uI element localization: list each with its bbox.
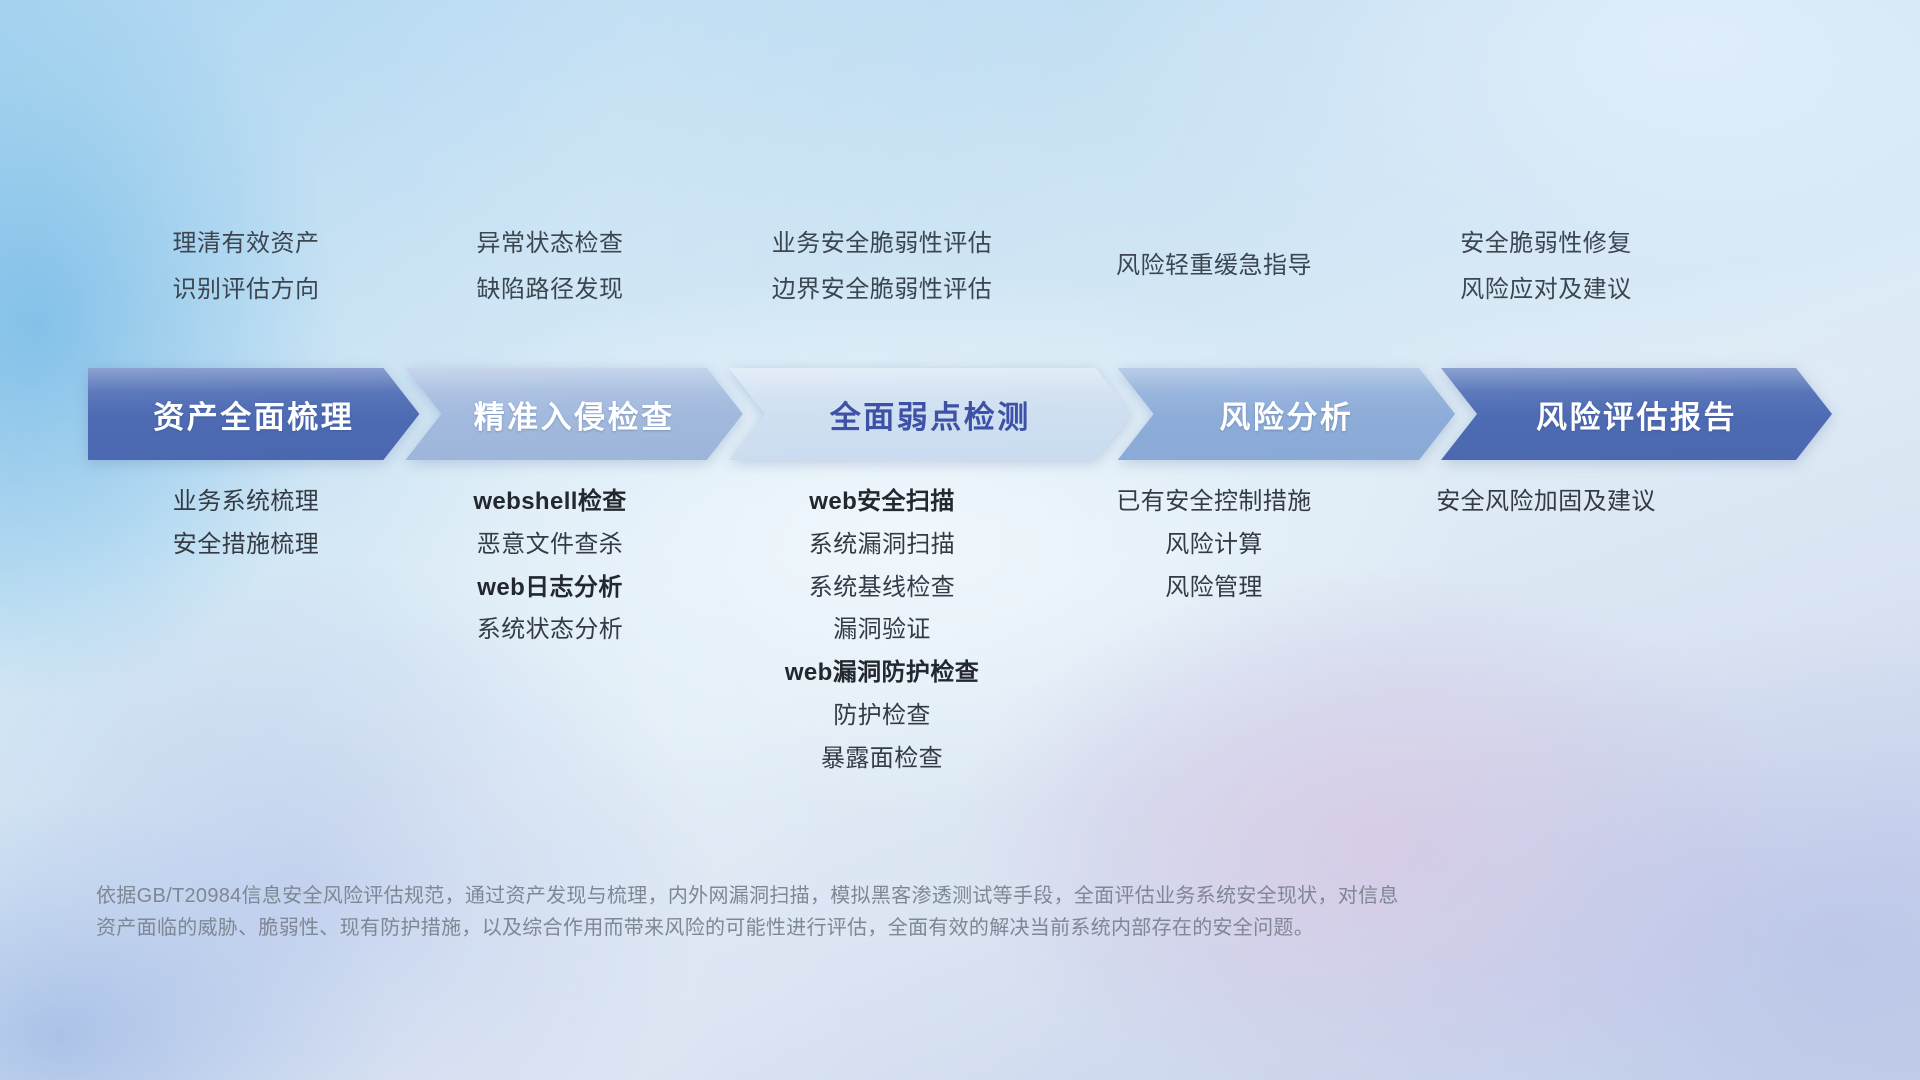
top-group-assessment-report: 安全脆弱性修复 风险应对及建议 — [1360, 232, 1732, 302]
top-label: 缺陷路径发现 — [477, 278, 624, 302]
list-item: 漏洞验证 — [833, 616, 931, 645]
chevron-label: 风险评估报告 — [1536, 392, 1737, 437]
top-group-intrusion-check: 异常状态检查 缺陷路径发现 — [404, 232, 696, 302]
bottom-group-assessment-report: 安全风险加固及建议 — [1360, 488, 1732, 774]
top-label: 业务安全脆弱性评估 — [772, 232, 993, 256]
process-chevron-banner: 资产全面梳理 精准入侵检查 全面弱点检测 风险分析 风险评估报告 — [88, 368, 1832, 460]
list-item: 业务系统梳理 — [173, 488, 319, 517]
top-label: 异常状态检查 — [477, 232, 624, 256]
top-label: 识别评估方向 — [173, 278, 320, 302]
list-item: 系统漏洞扫描 — [809, 531, 955, 560]
list-item: web日志分析 — [477, 574, 622, 603]
bottom-group-weakness-detection: web安全扫描 系统漏洞扫描 系统基线检查 漏洞验证 web漏洞防护检查 防护检… — [696, 488, 1068, 774]
chevron-stage-asset-inventory[interactable]: 资产全面梳理 — [88, 368, 419, 460]
top-label: 风险应对及建议 — [1460, 278, 1632, 302]
list-item: web安全扫描 — [809, 488, 954, 517]
top-label: 安全脆弱性修复 — [1460, 232, 1632, 256]
list-item: 系统基线检查 — [809, 574, 955, 603]
top-label: 理清有效资产 — [173, 232, 320, 256]
list-item: web漏洞防护检查 — [785, 659, 979, 688]
list-item: 恶意文件查杀 — [477, 531, 623, 560]
top-label: 边界安全脆弱性评估 — [772, 278, 993, 302]
top-label: 风险轻重缓急指导 — [1116, 254, 1312, 278]
top-group-weakness-detection: 业务安全脆弱性评估 边界安全脆弱性评估 — [696, 232, 1068, 302]
chevron-stage-assessment-report[interactable]: 风险评估报告 — [1441, 368, 1832, 460]
chevron-label: 全面弱点检测 — [830, 392, 1031, 437]
list-item: webshell检查 — [473, 488, 626, 517]
bottom-group-intrusion-check: webshell检查 恶意文件查杀 web日志分析 系统状态分析 — [404, 488, 696, 774]
footer-line: 依据GB/T20984信息安全风险评估规范，通过资产发现与梳理，内外网漏洞扫描，… — [96, 880, 1656, 912]
list-item: 安全措施梳理 — [173, 531, 319, 560]
slide-canvas: 理清有效资产 识别评估方向 异常状态检查 缺陷路径发现 业务安全脆弱性评估 边界… — [0, 0, 1920, 1080]
chevron-label: 资产全面梳理 — [153, 392, 354, 437]
top-group-risk-analysis: 风险轻重缓急指导 — [1068, 232, 1360, 302]
footer-line: 资产面临的威胁、脆弱性、现有防护措施，以及综合作用而带来风险的可能性进行评估，全… — [96, 912, 1656, 944]
footer-description: 依据GB/T20984信息安全风险评估规范，通过资产发现与梳理，内外网漏洞扫描，… — [96, 880, 1656, 945]
list-item: 风险管理 — [1165, 574, 1263, 603]
list-item: 防护检查 — [833, 702, 931, 731]
bottom-group-asset-inventory: 业务系统梳理 安全措施梳理 — [88, 488, 404, 774]
chevron-stage-intrusion-check[interactable]: 精准入侵检查 — [405, 368, 742, 460]
list-item: 已有安全控制措施 — [1116, 488, 1311, 517]
chevron-stage-risk-analysis[interactable]: 风险分析 — [1118, 368, 1455, 460]
top-label-row: 理清有效资产 识别评估方向 异常状态检查 缺陷路径发现 业务安全脆弱性评估 边界… — [88, 232, 1832, 302]
list-item: 安全风险加固及建议 — [1436, 488, 1656, 517]
chevron-stage-weakness-detection[interactable]: 全面弱点检测 — [729, 368, 1132, 460]
slide-content: 理清有效资产 识别评估方向 异常状态检查 缺陷路径发现 业务安全脆弱性评估 边界… — [0, 0, 1920, 1080]
bottom-group-risk-analysis: 已有安全控制措施 风险计算 风险管理 — [1068, 488, 1360, 774]
list-item: 系统状态分析 — [477, 616, 623, 645]
bottom-list-row: 业务系统梳理 安全措施梳理 webshell检查 恶意文件查杀 web日志分析 … — [88, 488, 1832, 774]
list-item: 暴露面检查 — [821, 745, 943, 774]
chevron-label: 精准入侵检查 — [474, 392, 675, 437]
list-item: 风险计算 — [1165, 531, 1263, 560]
top-group-asset-inventory: 理清有效资产 识别评估方向 — [88, 232, 404, 302]
chevron-label: 风险分析 — [1219, 392, 1353, 437]
